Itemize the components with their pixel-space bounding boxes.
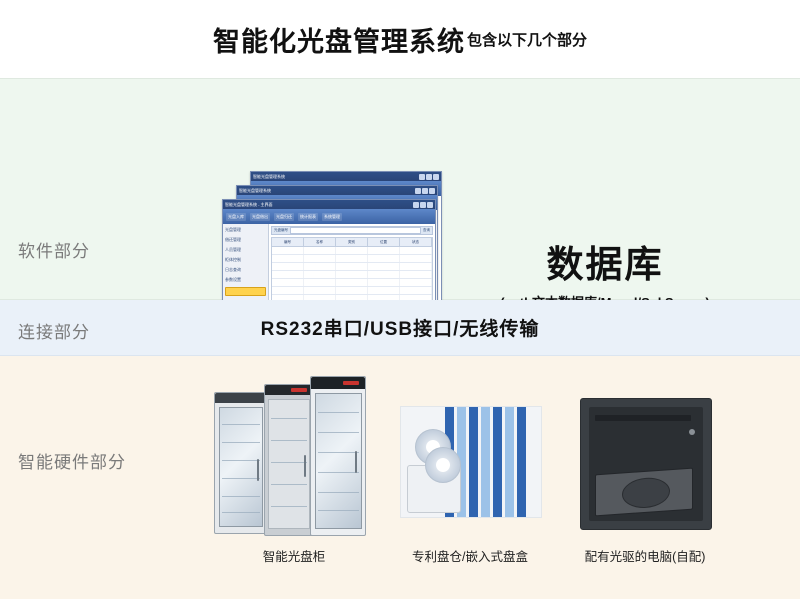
tray-disc: [622, 476, 670, 509]
computer-caption: 配有光驱的电脑(自配): [550, 546, 740, 565]
disc-bin-illustration: [400, 406, 542, 518]
table-row[interactable]: [272, 271, 432, 279]
cabinet-middle: [264, 384, 314, 536]
window-back-title: 智能光盘管理系统: [253, 174, 285, 180]
sidebar-item-disc[interactable]: 光盘管理: [225, 227, 266, 233]
cabinet-left-handle: [257, 459, 259, 481]
disc-bin-caption: 专利盘仓/嵌入式盘盒: [390, 546, 550, 565]
cabinet-caption: 智能光盘柜: [204, 546, 384, 565]
window-middle-controls[interactable]: [415, 188, 435, 194]
computer-illustration: [580, 398, 712, 530]
cabinet-right: [310, 376, 366, 536]
window-back-titlebar: 智能光盘管理系统: [251, 172, 441, 181]
window-middle-titlebar: 智能光盘管理系统: [237, 186, 437, 195]
window-middle-title: 智能光盘管理系统: [239, 188, 271, 194]
sidebar-item-people[interactable]: 人员管理: [225, 247, 266, 253]
column-header: 编号: [272, 238, 304, 246]
table-row[interactable]: [272, 263, 432, 271]
cabinet-right-handle: [355, 451, 357, 473]
page-subtitle: 包含以下几个部分: [467, 29, 587, 50]
disc-media: [425, 447, 461, 483]
software-section: 软件部分 智能光盘管理系统 光盘入库 光盘出库 查询统计 系统设置 智能光盘管理…: [0, 78, 800, 300]
column-header: 名称: [304, 238, 336, 246]
hardware-item-computer: 配有光驱的电脑(自配): [580, 398, 712, 530]
window-front-controls[interactable]: [413, 202, 433, 208]
table-row[interactable]: [272, 287, 432, 295]
page-header: 智能化光盘管理系统 包含以下几个部分: [0, 0, 800, 78]
window-back-controls[interactable]: [419, 174, 439, 180]
table-row[interactable]: [272, 247, 432, 255]
toolbar-item-report[interactable]: 统计报表: [298, 213, 318, 221]
cabinet-right-led: [343, 381, 359, 385]
database-title: 数据库: [440, 234, 770, 288]
sidebar-item-cabinet[interactable]: 柜体控制: [225, 257, 266, 263]
cabinet-middle-handle: [304, 455, 306, 477]
connection-section: 连接部分 RS232串口/USB接口/无线传输: [0, 300, 800, 356]
optical-drive-slot: [595, 415, 691, 421]
power-button-icon: [689, 429, 695, 435]
cabinet-middle-top: [265, 385, 313, 395]
hardware-item-disc-bin: 专利盘仓/嵌入式盘盒: [400, 406, 542, 518]
search-filter-label: 光盘编号: [274, 228, 288, 233]
page-title: 智能化光盘管理系统: [213, 20, 465, 59]
toolbar-item-lend[interactable]: 光盘借出: [250, 213, 270, 221]
search-button[interactable]: 查询: [423, 228, 430, 233]
window-front-toolbar[interactable]: 光盘入库 光盘借出 光盘归还 统计报表 系统管理: [223, 209, 435, 224]
window-front-title: 智能光盘管理系统 - 主界面: [225, 202, 273, 208]
toolbar-item-import[interactable]: 光盘入库: [226, 213, 246, 221]
connection-text: RS232串口/USB接口/无线传输: [261, 314, 540, 341]
table-header-row: 编号 名称 类别 位置 状态: [271, 237, 433, 247]
cabinet-illustration: [214, 374, 374, 534]
connection-section-label: 连接部分: [18, 318, 90, 343]
table-row[interactable]: [272, 279, 432, 287]
cabinet-left: [214, 392, 268, 534]
hardware-item-cabinet: 智能光盘柜: [214, 374, 374, 534]
toolbar-item-admin[interactable]: 系统管理: [322, 213, 342, 221]
column-header: 位置: [368, 238, 400, 246]
sidebar-item-lending[interactable]: 借还管理: [225, 237, 266, 243]
sidebar-item-logs[interactable]: 日志查询: [225, 267, 266, 273]
open-cabinet-button[interactable]: [225, 287, 266, 296]
hardware-section: 智能硬件部分: [0, 356, 800, 599]
toolbar-item-return[interactable]: 光盘归还: [274, 213, 294, 221]
column-header: 状态: [400, 238, 432, 246]
optical-drive-tray: [595, 468, 693, 517]
hardware-items: 智能光盘柜 专利盘仓/嵌入式盘盒: [200, 374, 780, 564]
sidebar-item-settings[interactable]: 参数设置: [225, 277, 266, 283]
cabinet-left-top: [215, 393, 267, 403]
search-bar[interactable]: 光盘编号 查询: [271, 226, 433, 235]
cabinet-status-led: [291, 388, 307, 392]
hardware-section-label: 智能硬件部分: [18, 448, 126, 473]
table-row[interactable]: [272, 255, 432, 263]
column-header: 类别: [336, 238, 368, 246]
cabinet-right-top: [311, 377, 365, 389]
software-section-label: 软件部分: [18, 237, 90, 262]
window-front-titlebar: 智能光盘管理系统 - 主界面: [223, 200, 435, 209]
search-input[interactable]: [290, 227, 421, 234]
